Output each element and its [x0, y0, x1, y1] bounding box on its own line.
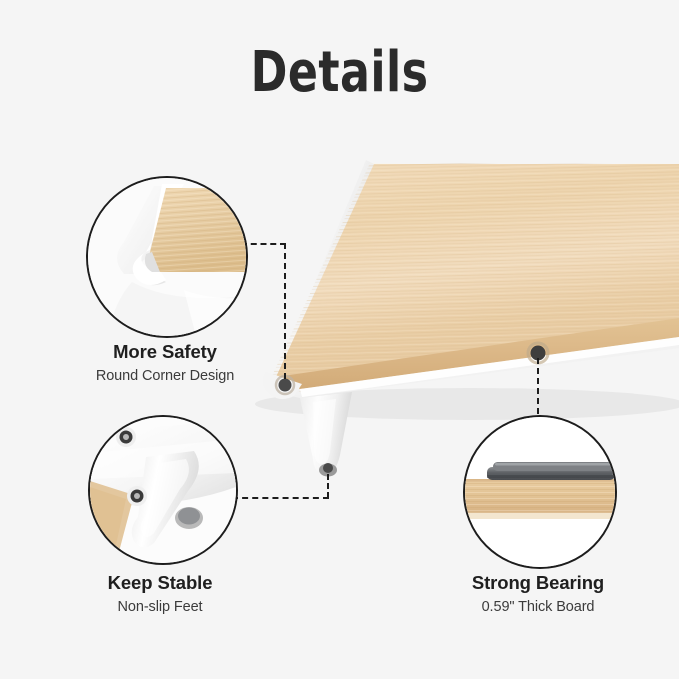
thickness-detail-art — [465, 417, 615, 567]
leader-foot-vertical — [327, 474, 329, 498]
magnifier-circle-feet — [88, 415, 238, 565]
callout-headline: Keep Stable — [20, 572, 300, 594]
magnifier-circle-corner — [86, 176, 248, 338]
foot-detail-art — [90, 417, 236, 563]
magnifier-circle-thickness — [463, 415, 617, 569]
caption-more-safety: More Safety Round Corner Design — [25, 341, 305, 384]
leader-thickness-vertical — [537, 358, 539, 414]
infographic-page: Details — [0, 0, 679, 679]
callout-subtext: 0.59" Thick Board — [398, 599, 678, 615]
leader-foot-horizontal — [232, 497, 329, 499]
callout-headline: Strong Bearing — [398, 572, 678, 594]
callout-subtext: Non-slip Feet — [20, 599, 300, 615]
corner-detail-art — [88, 178, 246, 336]
caption-keep-stable: Keep Stable Non-slip Feet — [20, 572, 300, 615]
callout-headline: More Safety — [25, 341, 305, 363]
callout-subtext: Round Corner Design — [25, 368, 305, 384]
caption-strong-bearing: Strong Bearing 0.59" Thick Board — [398, 572, 678, 615]
leader-corner-horizontal — [241, 243, 286, 245]
